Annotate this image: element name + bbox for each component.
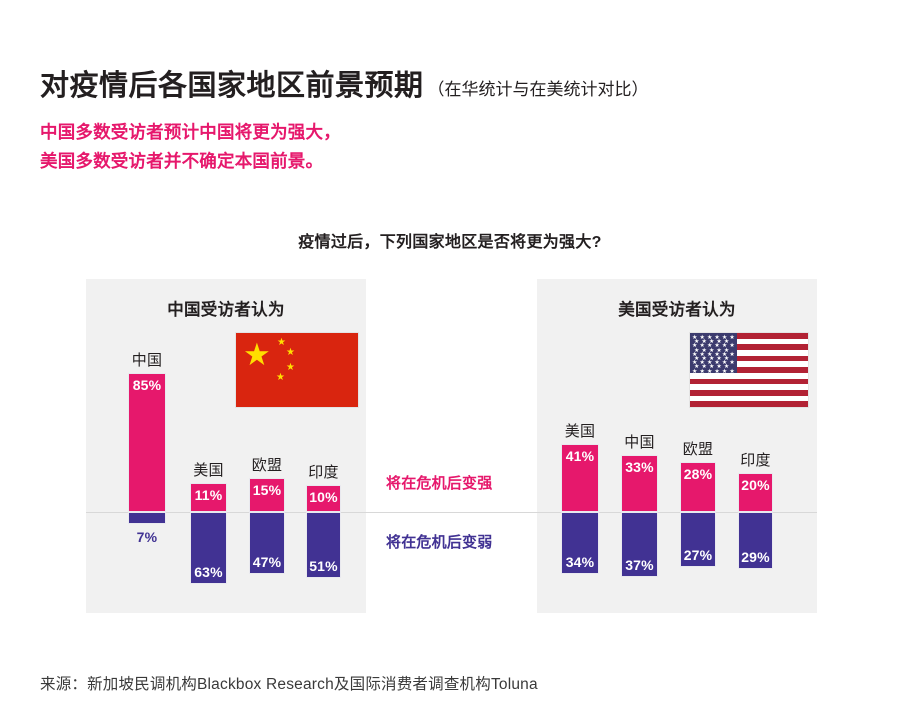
deck-line-2: 美国多数受访者并不确定本国前景。: [40, 147, 341, 176]
bar-segment-stronger[interactable]: 15%: [249, 478, 285, 512]
bar-value-stronger: 28%: [681, 466, 715, 482]
bar-segment-weaker[interactable]: 37%: [621, 512, 658, 577]
bar-right-中国[interactable]: 中国33%37%: [621, 455, 658, 577]
bar-segment-weaker[interactable]: 27%: [680, 512, 716, 567]
source-note: 来源：新加坡民调机构Blackbox Research及国际消费者调查机构Tol…: [40, 672, 538, 694]
bar-category-label: 欧盟: [683, 438, 713, 459]
bar-category-label: 美国: [193, 459, 223, 480]
deck: 中国多数受访者预计中国将更为强大， 美国多数受访者并不确定本国前景。: [40, 118, 341, 176]
bar-segment-stronger[interactable]: 10%: [306, 485, 341, 512]
usa-flag-star-row: ★★★★★★: [690, 369, 737, 373]
panel-right-title: 美国受访者认为: [537, 296, 817, 320]
bar-segment-stronger[interactable]: 28%: [680, 462, 716, 512]
chart-question: 疫情过后，下列国家地区是否将更为强大?: [0, 228, 900, 252]
bar-right-欧盟[interactable]: 欧盟28%27%: [680, 462, 716, 567]
usa-flag-icon: ★★★★★★★★★★★★★★★★★★★★★★★★★★★★★★★★★★★★★★★★…: [690, 333, 808, 407]
legend-weaker: 将在危机后变弱: [386, 531, 536, 552]
bar-segment-weaker[interactable]: 63%: [190, 512, 227, 584]
bar-left-美国[interactable]: 美国11%63%: [190, 483, 227, 584]
china-flag-big-star: ★: [243, 339, 271, 370]
bar-value-stronger: 20%: [739, 477, 772, 493]
bar-value-stronger: 10%: [307, 489, 340, 505]
china-flag-icon: ★ ★ ★ ★ ★: [236, 333, 358, 407]
bar-value-weaker: 63%: [191, 564, 226, 580]
usa-flag-canton: ★★★★★★★★★★★★★★★★★★★★★★★★★★★★★★★★★★★★★★★★…: [690, 333, 737, 373]
bar-left-中国[interactable]: 中国85%7%: [128, 373, 166, 524]
deck-line-1: 中国多数受访者预计中国将更为强大，: [40, 118, 341, 147]
bar-value-weaker: 7%: [137, 529, 158, 545]
bar-right-印度[interactable]: 印度20%29%: [738, 473, 773, 569]
bar-value-weaker: 51%: [307, 558, 340, 574]
bar-segment-stronger[interactable]: 20%: [738, 473, 773, 512]
usa-flag-stripe: [690, 401, 808, 407]
bar-segment-weaker[interactable]: 29%: [738, 512, 773, 569]
bar-category-label: 中国: [132, 349, 162, 370]
usa-flag-stripe: [690, 390, 808, 396]
bar-left-印度[interactable]: 印度10%51%: [306, 485, 341, 578]
bar-value-weaker: 27%: [681, 547, 715, 563]
bar-value-weaker: 29%: [739, 549, 772, 565]
china-flag-small-star-4: ★: [276, 373, 285, 383]
bar-value-stronger: 85%: [129, 377, 165, 393]
bar-value-weaker: 47%: [250, 554, 284, 570]
page-subtitle: （在华统计与在美统计对比）: [428, 75, 649, 100]
bar-segment-stronger[interactable]: 85%: [128, 373, 166, 512]
bar-value-weaker: 34%: [562, 554, 598, 570]
bar-segment-weaker[interactable]: 51%: [306, 512, 341, 578]
bar-segment-stronger[interactable]: 33%: [621, 455, 658, 512]
page-title: 对疫情后各国家地区前景预期: [40, 62, 424, 104]
bar-category-label: 美国: [565, 420, 595, 441]
china-flag-small-star-1: ★: [277, 338, 286, 348]
legend-stronger: 将在危机后变强: [386, 472, 536, 493]
bar-category-label: 印度: [308, 461, 338, 482]
bar-category-label: 欧盟: [252, 454, 282, 475]
infographic-root: 对疫情后各国家地区前景预期（在华统计与在美统计对比） 中国多数受访者预计中国将更…: [0, 0, 900, 719]
bar-right-美国[interactable]: 美国41%34%: [561, 444, 599, 574]
bar-segment-weaker[interactable]: 47%: [249, 512, 285, 574]
bar-value-stronger: 41%: [562, 448, 598, 464]
china-flag-small-star-2: ★: [286, 348, 295, 358]
usa-flag-stripe: [690, 379, 808, 385]
china-flag-small-star-3: ★: [286, 363, 295, 373]
bar-value-weaker: 37%: [622, 557, 657, 573]
bar-value-stronger: 11%: [191, 487, 226, 503]
bar-segment-stronger[interactable]: 41%: [561, 444, 599, 512]
bar-segment-weaker[interactable]: [128, 512, 166, 524]
bar-category-label: 印度: [740, 449, 770, 470]
bar-category-label: 中国: [624, 431, 654, 452]
bar-left-欧盟[interactable]: 欧盟15%47%: [249, 478, 285, 574]
header: 对疫情后各国家地区前景预期（在华统计与在美统计对比）: [40, 62, 649, 104]
bar-value-stronger: 15%: [250, 482, 284, 498]
bar-segment-weaker[interactable]: 34%: [561, 512, 599, 574]
panel-left-title: 中国受访者认为: [86, 296, 366, 320]
bar-segment-stronger[interactable]: 11%: [190, 483, 227, 512]
bar-value-stronger: 33%: [622, 459, 657, 475]
